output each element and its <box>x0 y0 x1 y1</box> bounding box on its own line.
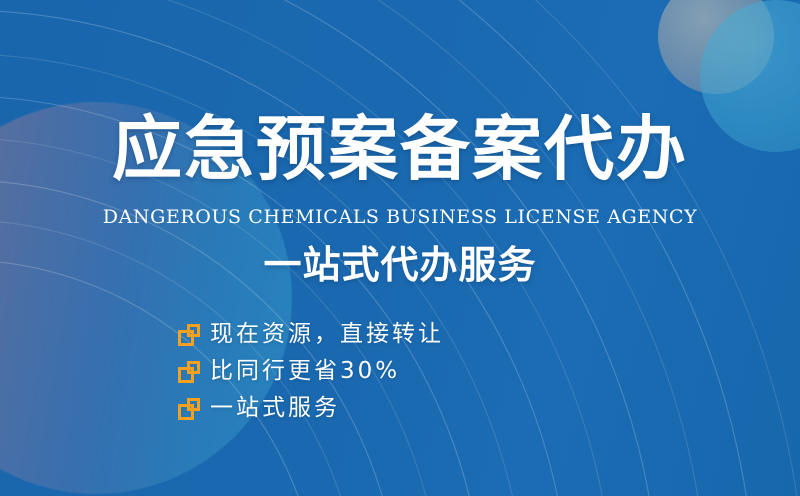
list-item: 一站式服务 <box>178 390 444 427</box>
page-subtitle-chinese: 一站式代办服务 <box>0 246 800 284</box>
list-item-label: 比同行更省30% <box>210 360 400 383</box>
banner-content: 应急预案备案代办 DANGEROUS CHEMICALS BUSINESS LI… <box>0 0 800 496</box>
list-item-label: 一站式服务 <box>210 397 340 420</box>
feature-list: 现在资源，直接转让 比同行更省30% 一站式服务 <box>178 316 444 427</box>
promo-banner: 应急预案备案代办 DANGEROUS CHEMICALS BUSINESS LI… <box>0 0 800 496</box>
overlapping-squares-icon <box>178 361 200 383</box>
list-item: 比同行更省30% <box>178 353 444 390</box>
list-item: 现在资源，直接转让 <box>178 316 444 353</box>
overlapping-squares-icon <box>178 398 200 420</box>
page-title: 应急预案备案代办 <box>0 114 800 184</box>
overlapping-squares-icon <box>178 324 200 346</box>
list-item-label: 现在资源，直接转让 <box>210 323 444 346</box>
page-subtitle-english: DANGEROUS CHEMICALS BUSINESS LICENSE AGE… <box>0 206 800 228</box>
